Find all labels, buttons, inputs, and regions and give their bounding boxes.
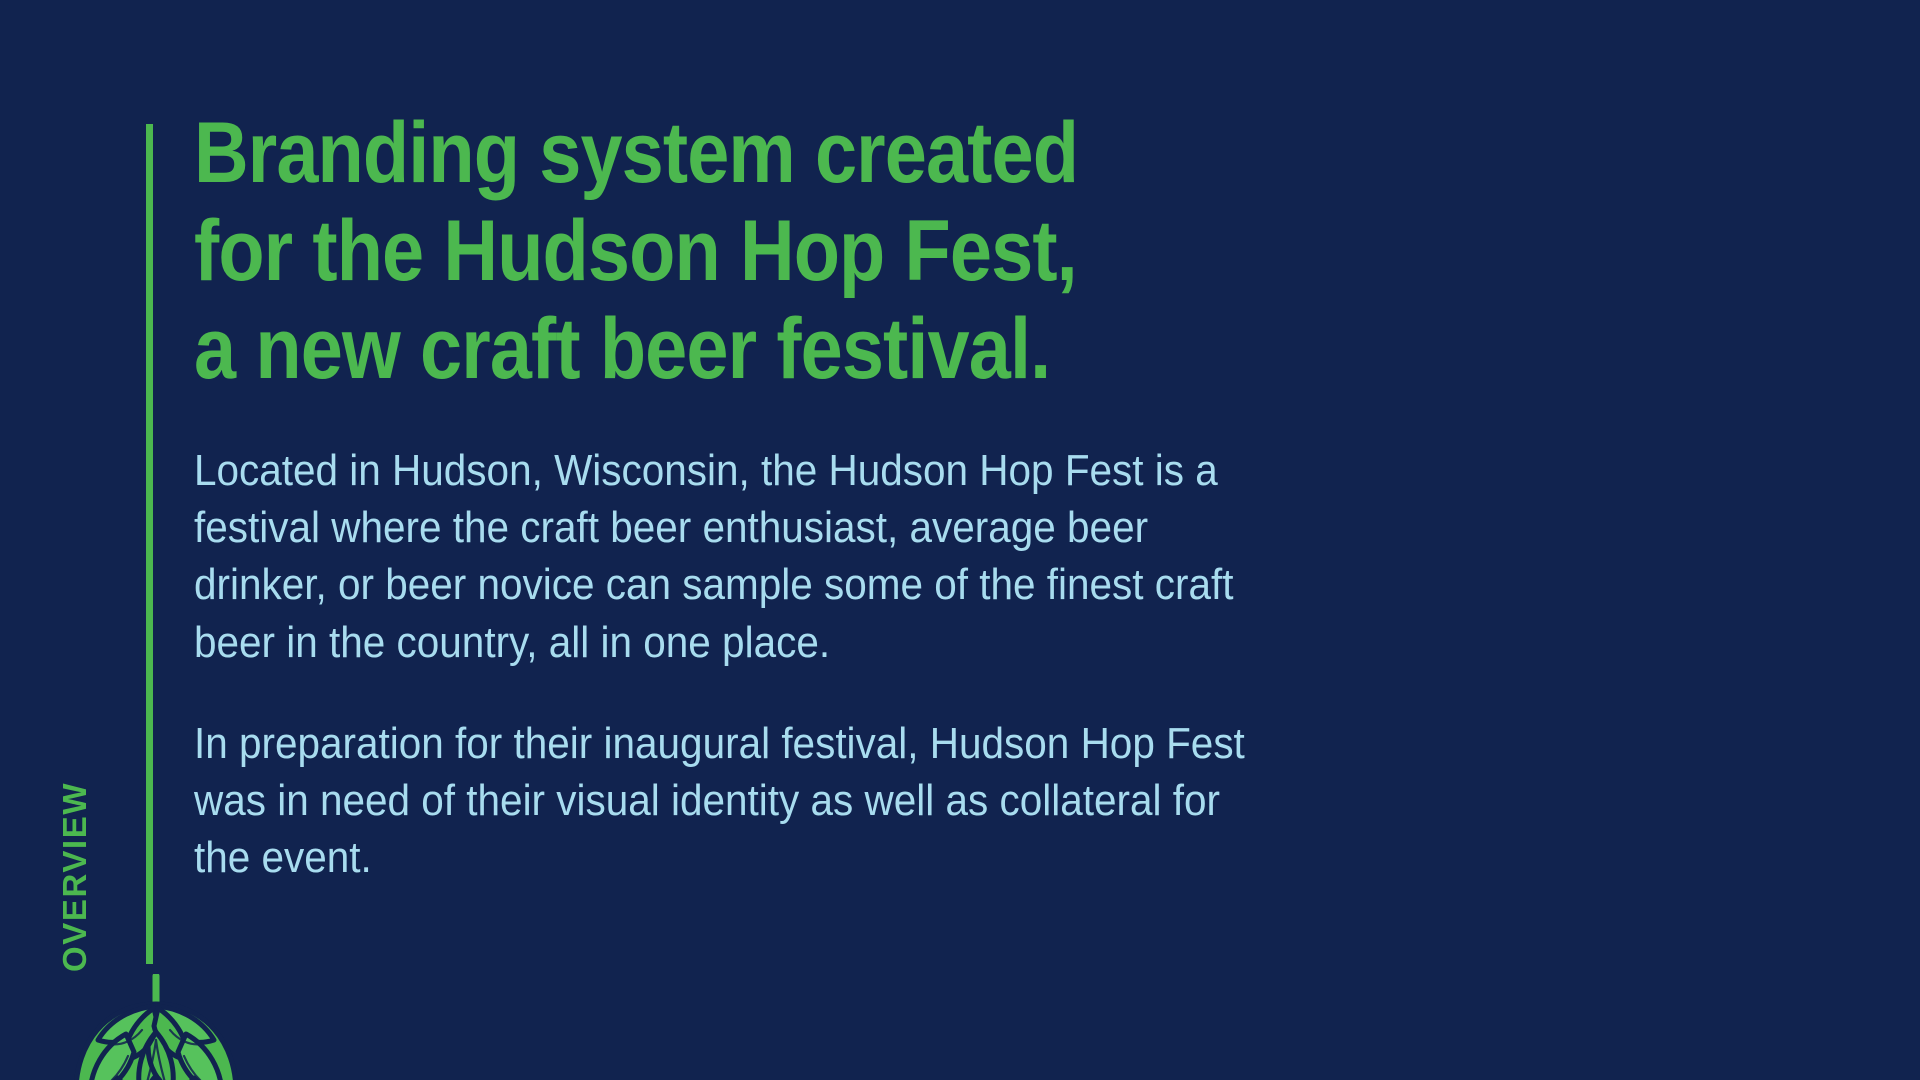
content-column: Branding system created for the Hudson H… (194, 104, 1374, 886)
page-title: Branding system created for the Hudson H… (194, 104, 1232, 398)
overview-paragraph-1: Located in Hudson, Wisconsin, the Hudson… (194, 442, 1261, 671)
section-label-container: OVERVIEW (0, 700, 140, 970)
hop-cone-icon (66, 974, 246, 1080)
vertical-accent-rule (146, 124, 153, 964)
overview-slide: OVERVIEW Branding system created for the… (0, 0, 1920, 1080)
overview-paragraph-2: In preparation for their inaugural festi… (194, 715, 1261, 887)
section-label-overview: OVERVIEW (56, 702, 94, 972)
hop-cone-illustration-container (66, 974, 246, 1080)
